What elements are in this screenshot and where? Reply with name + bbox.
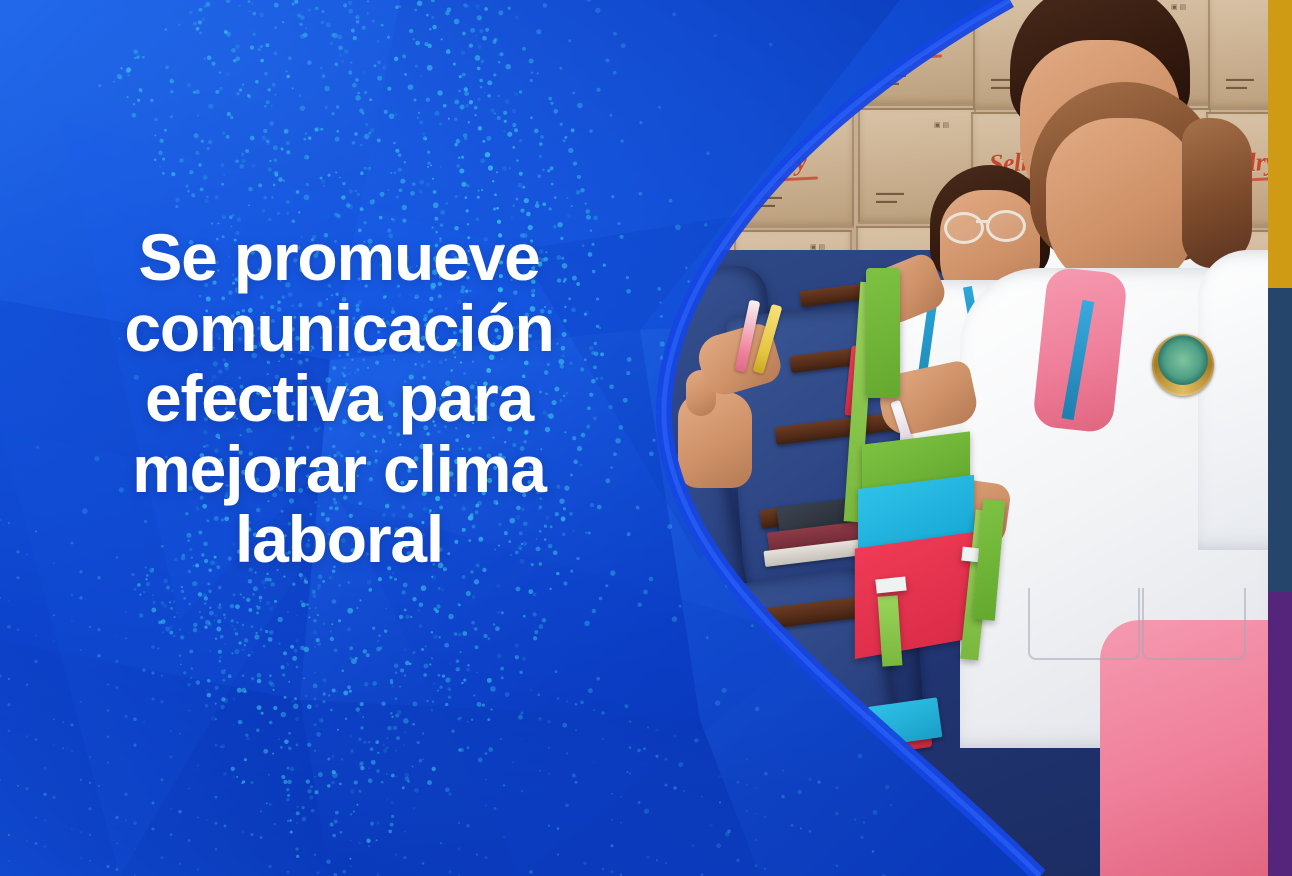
page-title: Se promuevecomunicaciónefectiva paramejo…	[0, 222, 758, 575]
rail-segment-purple	[1268, 592, 1292, 876]
color-rail	[1268, 0, 1292, 876]
banner-canvas: Selry▣ ▤▬▬▬▬▬▬▬▣ ▤▬▬▬▬▬▬▬Selry▣ ▤▬▬▬▬▬▬▬…	[0, 0, 1292, 876]
rail-segment-navy	[1268, 288, 1292, 592]
rail-segment-gold	[1268, 0, 1292, 288]
headline-block: Se promuevecomunicaciónefectiva paramejo…	[0, 222, 758, 575]
